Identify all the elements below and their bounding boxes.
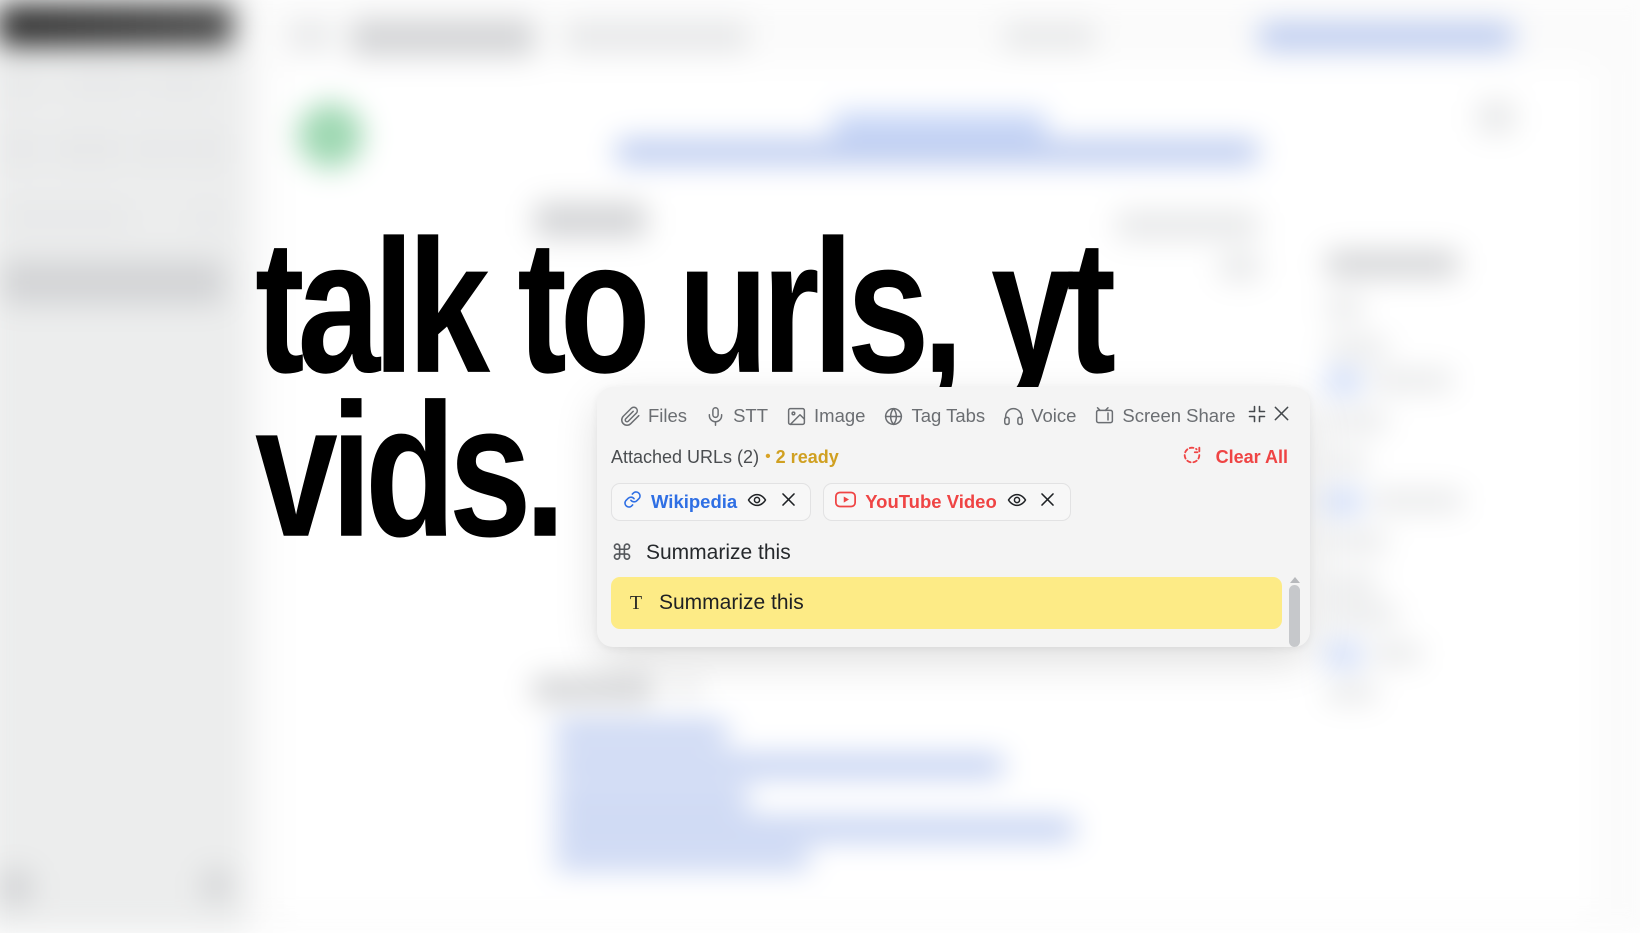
bg-shape xyxy=(65,72,136,94)
microphone-icon xyxy=(705,406,726,427)
bg-shape xyxy=(1259,23,1514,50)
toolbar-item-label: Files xyxy=(648,405,687,427)
bg-shape xyxy=(181,134,222,165)
url-chip-label: YouTube Video xyxy=(865,491,997,513)
bg-shape xyxy=(616,140,1259,164)
toolbar-item-label: Voice xyxy=(1031,405,1076,427)
bg-shape xyxy=(6,207,128,229)
toolbar-item-label: Image xyxy=(814,405,865,427)
youtube-icon xyxy=(835,491,856,513)
link-icon xyxy=(623,490,642,514)
bg-shape xyxy=(1116,211,1259,240)
bg-shape xyxy=(555,723,728,743)
bg-shape xyxy=(0,870,33,905)
bg-shape xyxy=(555,756,1004,776)
bg-shape xyxy=(1371,370,1453,390)
close-icon xyxy=(1271,403,1292,429)
toolbar-item-files[interactable]: Files xyxy=(611,402,696,430)
bg-shape xyxy=(351,19,535,56)
close-panel-button[interactable] xyxy=(1269,401,1294,431)
headphones-icon xyxy=(1003,406,1024,427)
collapse-icon xyxy=(1247,404,1267,429)
scroll-up-icon[interactable] xyxy=(1290,577,1300,583)
bg-shape xyxy=(202,870,231,901)
command-input-row[interactable]: ⌘ Summarize this xyxy=(597,531,1310,577)
eye-icon xyxy=(1007,490,1027,515)
toolbar-item-screen-share[interactable]: Screen Share xyxy=(1085,402,1244,430)
bg-shape xyxy=(1478,101,1515,134)
bg-shape xyxy=(1326,452,1367,472)
globe-icon xyxy=(883,406,904,427)
remove-url-button[interactable] xyxy=(777,491,799,513)
bg-shape xyxy=(1326,644,1361,666)
bg-shape xyxy=(1326,370,1361,392)
bg-shape xyxy=(2,134,39,165)
suggestion-item-label: Summarize this xyxy=(659,591,804,615)
toolbar-item-voice[interactable]: Voice xyxy=(994,402,1085,430)
bg-shape xyxy=(1004,23,1096,50)
url-chip-label: Wikipedia xyxy=(651,491,737,513)
bg-shape xyxy=(565,21,749,52)
attached-urls-header: Attached URLs (2) • 2 ready Clear All xyxy=(597,441,1310,471)
bg-shape xyxy=(532,676,654,703)
attached-separator: • xyxy=(765,448,771,466)
bg-shape xyxy=(298,103,363,168)
bg-shape xyxy=(1326,338,1387,358)
command-key-icon: ⌘ xyxy=(611,542,633,564)
bg-shape xyxy=(149,72,210,94)
bg-shape xyxy=(555,788,749,808)
bg-shape xyxy=(1326,297,1363,319)
bg-shape xyxy=(1371,491,1463,511)
url-chip-youtube[interactable]: YouTube Video xyxy=(823,483,1071,521)
bg-shape xyxy=(555,819,1075,839)
panel-toolbar: Files STT Image xyxy=(597,387,1310,441)
screen-share-icon xyxy=(1094,406,1115,427)
collapse-button[interactable] xyxy=(1245,401,1270,431)
bg-shape xyxy=(55,134,122,165)
bg-shape xyxy=(1220,254,1261,281)
attached-url-chip-list: Wikipedia xyxy=(597,471,1310,531)
image-icon xyxy=(786,406,807,427)
bg-shape xyxy=(555,850,810,868)
scrollbar-thumb[interactable] xyxy=(1289,585,1300,647)
bg-shape xyxy=(194,207,221,229)
toolbar-item-label: Tag Tabs xyxy=(911,405,985,427)
bg-shape xyxy=(137,134,174,165)
preview-button[interactable] xyxy=(1006,491,1028,513)
remove-url-button[interactable] xyxy=(1037,491,1059,513)
eye-icon xyxy=(747,490,767,515)
text-icon: T xyxy=(627,592,645,615)
clear-all-button[interactable]: Clear All xyxy=(1212,445,1292,470)
suggestion-list: T Summarize this xyxy=(597,577,1310,647)
paperclip-icon xyxy=(620,406,641,427)
toolbar-item-tag-tabs[interactable]: Tag Tabs xyxy=(874,402,994,430)
close-icon xyxy=(1038,490,1057,514)
toolbar-item-stt[interactable]: STT xyxy=(696,402,777,430)
bg-shape xyxy=(1326,682,1377,702)
attached-ready-status: 2 ready xyxy=(776,447,839,468)
attachment-panel: Files STT Image xyxy=(597,387,1310,647)
bg-shape xyxy=(0,5,232,46)
bg-shape xyxy=(1371,644,1422,664)
bg-shape xyxy=(2,260,224,305)
bg-shape xyxy=(290,21,331,50)
bg-shape xyxy=(1326,251,1459,278)
retry-icon xyxy=(1181,444,1203,471)
bg-shape xyxy=(1326,531,1387,551)
bg-shape xyxy=(0,74,41,94)
preview-button[interactable] xyxy=(746,491,768,513)
command-input-value: Summarize this xyxy=(646,541,791,565)
bg-shape xyxy=(534,203,646,238)
retry-button[interactable] xyxy=(1178,443,1206,471)
attached-urls-label: Attached URLs (2) xyxy=(611,447,759,468)
bg-shape xyxy=(1326,605,1397,625)
close-icon xyxy=(779,490,798,514)
bg-shape xyxy=(1326,574,1377,594)
toolbar-item-image[interactable]: Image xyxy=(777,402,874,430)
bg-shape xyxy=(1326,491,1361,513)
bg-shape xyxy=(673,680,700,698)
bg-shape xyxy=(1326,411,1387,431)
toolbar-item-label: Screen Share xyxy=(1122,405,1235,427)
toolbar-item-label: STT xyxy=(733,405,768,427)
url-chip-wikipedia[interactable]: Wikipedia xyxy=(611,483,811,521)
bg-shape xyxy=(832,113,1046,137)
suggestion-item-summarize[interactable]: T Summarize this xyxy=(611,577,1282,629)
suggestion-scrollbar[interactable] xyxy=(1289,577,1300,647)
